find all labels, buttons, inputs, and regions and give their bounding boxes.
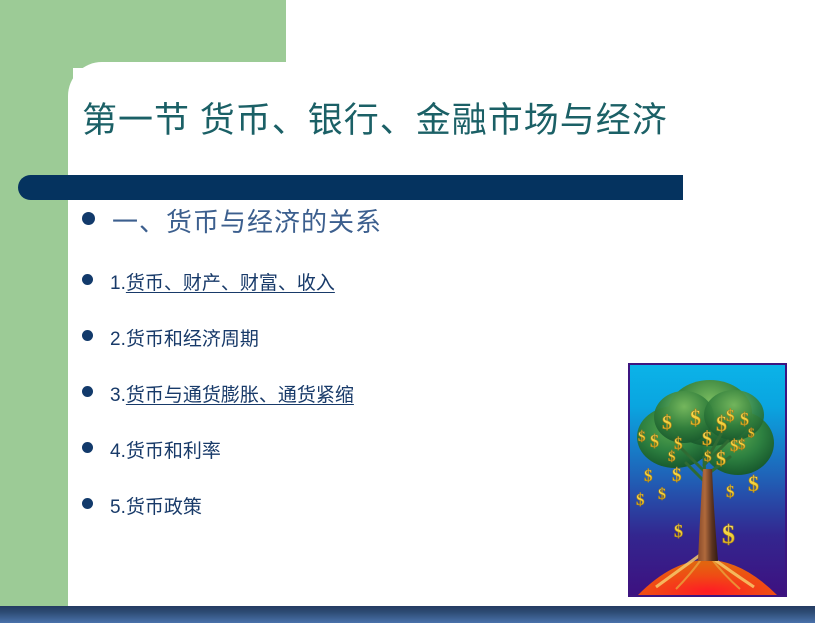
bullet-item-1[interactable]: 1.货币、财产、财富、收入: [82, 271, 612, 297]
bullet-dot-icon: [82, 212, 95, 225]
bullet-label: 2.货币和经济周期: [110, 327, 259, 353]
svg-text:$: $: [668, 449, 676, 465]
bullet-dot-icon: [82, 386, 93, 397]
footer-bar: [0, 606, 815, 623]
navy-divider-bar: [18, 175, 683, 200]
svg-text:$: $: [726, 406, 735, 425]
bullet-item-2[interactable]: 2.货币和经济周期: [82, 327, 612, 353]
svg-text:$: $: [704, 449, 712, 465]
bullet-plain-text: 货币和经济周期: [126, 329, 259, 350]
money-tree-illustration: $ $ $ $ $ $ $ $ $ $ $ $ $ $ $ $ $ $: [630, 365, 785, 595]
svg-text:$: $: [636, 490, 645, 509]
svg-text:$: $: [722, 520, 735, 549]
money-tree-image: $ $ $ $ $ $ $ $ $ $ $ $ $ $ $ $ $ $: [628, 363, 787, 597]
slide-title: 第一节 货币、银行、金融市场与经济: [82, 98, 782, 144]
svg-text:$: $: [638, 429, 646, 445]
bullet-dot-icon: [82, 330, 93, 341]
svg-text:$: $: [690, 405, 701, 430]
svg-text:$: $: [644, 466, 653, 485]
bullet-dot-icon: [82, 442, 93, 453]
svg-text:$: $: [674, 521, 683, 541]
bullet-label: 5.货币政策: [110, 495, 202, 521]
bullet-prefix: 2.: [110, 329, 126, 350]
bullet-label: 一、货币与经济的关系: [112, 206, 382, 240]
svg-text:$: $: [658, 486, 666, 503]
svg-text:$: $: [702, 428, 712, 450]
bullet-dot-icon: [82, 274, 93, 285]
green-sidebar-block: [0, 60, 73, 606]
bullet-label: 1.货币、财产、财富、收入: [110, 271, 335, 297]
bullet-dot-icon: [82, 498, 93, 509]
bullet-link-text[interactable]: 货币与通货膨胀、通货紧缩: [126, 385, 354, 406]
presentation-slide: 第一节 货币、银行、金融市场与经济 一、货币与经济的关系 1.货币、财产、财富、…: [0, 0, 815, 623]
bullet-item-3[interactable]: 3.货币与通货膨胀、通货紧缩: [82, 383, 612, 409]
svg-text:$: $: [738, 437, 746, 453]
svg-text:$: $: [716, 448, 726, 470]
bullet-label: 4.货币和利率: [110, 439, 221, 465]
svg-text:$: $: [650, 431, 659, 451]
bullet-prefix: 3.: [110, 385, 126, 406]
svg-text:$: $: [726, 482, 735, 501]
svg-text:$: $: [662, 412, 672, 434]
svg-text:$: $: [748, 471, 759, 496]
svg-text:$: $: [748, 425, 755, 440]
bullet-plain-text: 货币政策: [126, 497, 202, 518]
bullet-plain-text: 货币和利率: [126, 441, 221, 462]
bullet-prefix: 1.: [110, 273, 126, 294]
bullet-link-text[interactable]: 货币、财产、财富、收入: [126, 273, 335, 294]
svg-text:$: $: [672, 465, 682, 486]
bullet-prefix: 4.: [110, 441, 126, 462]
green-header-block: [0, 0, 286, 68]
bullet-money-economy-relation[interactable]: 一、货币与经济的关系: [82, 206, 612, 240]
bullet-list: 一、货币与经济的关系 1.货币、财产、财富、收入 2.货币和经济周期 3.货币与…: [82, 206, 612, 521]
bullet-item-4[interactable]: 4.货币和利率: [82, 439, 612, 465]
bullet-label: 3.货币与通货膨胀、通货紧缩: [110, 383, 354, 409]
bullet-item-5[interactable]: 5.货币政策: [82, 495, 612, 521]
bullet-prefix: 5.: [110, 497, 126, 518]
